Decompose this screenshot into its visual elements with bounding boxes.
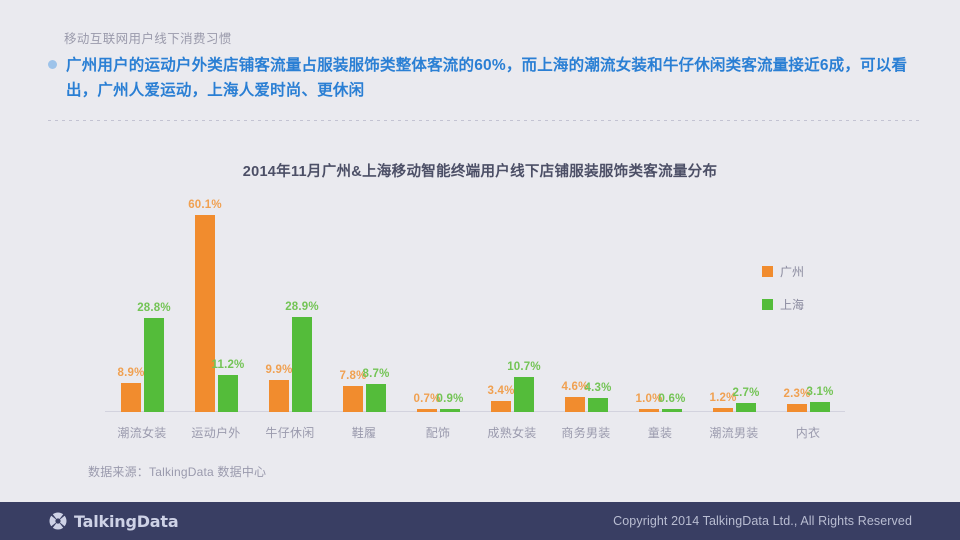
bar-value-label: 60.1% <box>188 199 222 211</box>
legend-label: 上海 <box>780 296 804 313</box>
bar-广州-潮流男装[interactable]: 1.2% <box>713 408 733 412</box>
bar-广州-鞋履[interactable]: 7.8% <box>343 386 363 412</box>
bar-上海-潮流男装[interactable]: 2.7% <box>736 403 756 412</box>
bar-上海-商务男装[interactable]: 4.3% <box>588 398 608 412</box>
bar-上海-内衣[interactable]: 3.1% <box>810 402 830 412</box>
header-divider <box>48 120 920 121</box>
pinwheel-logo-icon <box>48 511 68 531</box>
x-axis-label-童装: 童装 <box>623 424 697 441</box>
x-axis-label-商务男装: 商务男装 <box>549 424 623 441</box>
bar-广州-运动户外[interactable]: 60.1% <box>195 215 215 412</box>
x-axis-category-labels: 潮流女装运动户外牛仔休闲鞋履配饰成熟女装商务男装童装潮流男装内衣 <box>105 424 845 446</box>
page-headline: 广州用户的运动户外类店铺客流量占服装服饰类整体客流的60%，而上海的潮流女装和牛… <box>66 53 920 103</box>
bar-group: 7.8%8.7% <box>327 196 401 412</box>
legend-label: 广州 <box>780 263 804 280</box>
x-axis-label-鞋履: 鞋履 <box>327 424 401 441</box>
bar-广州-配饰[interactable]: 0.7% <box>417 409 437 412</box>
data-source-note: 数据来源：TalkingData 数据中心 <box>88 463 266 480</box>
chart-title: 2014年11月广州&上海移动智能终端用户线下店铺服装服饰类客流量分布 <box>0 160 960 181</box>
headline-row: 广州用户的运动户外类店铺客流量占服装服饰类整体客流的60%，而上海的潮流女装和牛… <box>48 53 920 103</box>
bar-value-label: 8.7% <box>362 368 389 380</box>
copyright-text: Copyright 2014 TalkingData Ltd., All Rig… <box>613 514 912 528</box>
bar-group: 1.2%2.7% <box>697 196 771 412</box>
bar-value-label: 2.7% <box>732 387 759 399</box>
legend-swatch-icon <box>762 266 773 277</box>
bar-上海-鞋履[interactable]: 8.7% <box>366 384 386 412</box>
chart-legend: 广州上海 <box>762 263 804 329</box>
bar-上海-童装[interactable]: 0.6% <box>662 409 682 412</box>
bar-value-label: 9.9% <box>265 364 292 376</box>
bullet-dot-icon <box>48 60 57 69</box>
logo-text: TalkingData <box>74 512 178 531</box>
x-axis-label-配饰: 配饰 <box>401 424 475 441</box>
legend-item-上海[interactable]: 上海 <box>762 296 804 313</box>
bar-value-label: 3.4% <box>487 385 514 397</box>
legend-item-广州[interactable]: 广州 <box>762 263 804 280</box>
legend-swatch-icon <box>762 299 773 310</box>
bar-value-label: 3.1% <box>806 386 833 398</box>
bar-value-label: 8.9% <box>117 367 144 379</box>
bar-group: 3.4%10.7% <box>475 196 549 412</box>
bar-group: 4.6%4.3% <box>549 196 623 412</box>
bar-上海-牛仔休闲[interactable]: 28.9% <box>292 317 312 412</box>
bar-value-label: 0.6% <box>658 393 685 405</box>
bar-value-label: 11.2% <box>212 359 245 371</box>
bar-广州-商务男装[interactable]: 4.6% <box>565 397 585 412</box>
bar-广州-潮流女装[interactable]: 8.9% <box>121 383 141 412</box>
bar-上海-成熟女装[interactable]: 10.7% <box>514 377 534 412</box>
bar-广州-牛仔休闲[interactable]: 9.9% <box>269 380 289 412</box>
bar-group: 1.0%0.6% <box>623 196 697 412</box>
bar-group: 8.9%28.8% <box>105 196 179 412</box>
bar-value-label: 28.9% <box>285 301 319 313</box>
bar-广州-内衣[interactable]: 2.3% <box>787 404 807 412</box>
x-axis-label-成熟女装: 成熟女装 <box>475 424 549 441</box>
bar-value-label: 28.8% <box>137 302 171 314</box>
bar-group: 9.9%28.9% <box>253 196 327 412</box>
x-axis-label-潮流男装: 潮流男装 <box>697 424 771 441</box>
page-footer: TalkingData Copyright 2014 TalkingData L… <box>0 502 960 540</box>
talkingdata-logo: TalkingData <box>48 511 178 531</box>
bar-上海-潮流女装[interactable]: 28.8% <box>144 318 164 412</box>
bar-上海-配饰[interactable]: 0.9% <box>440 409 460 412</box>
bar-广州-童装[interactable]: 1.0% <box>639 409 659 412</box>
bar-group: 60.1%11.2% <box>179 196 253 412</box>
bar-value-label: 10.7% <box>507 361 541 373</box>
bar-上海-运动户外[interactable]: 11.2% <box>218 375 238 412</box>
x-axis-label-牛仔休闲: 牛仔休闲 <box>253 424 327 441</box>
bar-广州-成熟女装[interactable]: 3.4% <box>491 401 511 412</box>
x-axis-label-运动户外: 运动户外 <box>179 424 253 441</box>
bar-value-label: 0.9% <box>436 393 463 405</box>
bar-group: 0.7%0.9% <box>401 196 475 412</box>
bar-chart-plot-area: 8.9%28.8%60.1%11.2%9.9%28.9%7.8%8.7%0.7%… <box>105 196 845 412</box>
x-axis-label-潮流女装: 潮流女装 <box>105 424 179 441</box>
bar-value-label: 4.3% <box>584 382 611 394</box>
x-axis-label-内衣: 内衣 <box>771 424 845 441</box>
page-kicker: 移动互联网用户线下消费习惯 <box>64 28 232 47</box>
